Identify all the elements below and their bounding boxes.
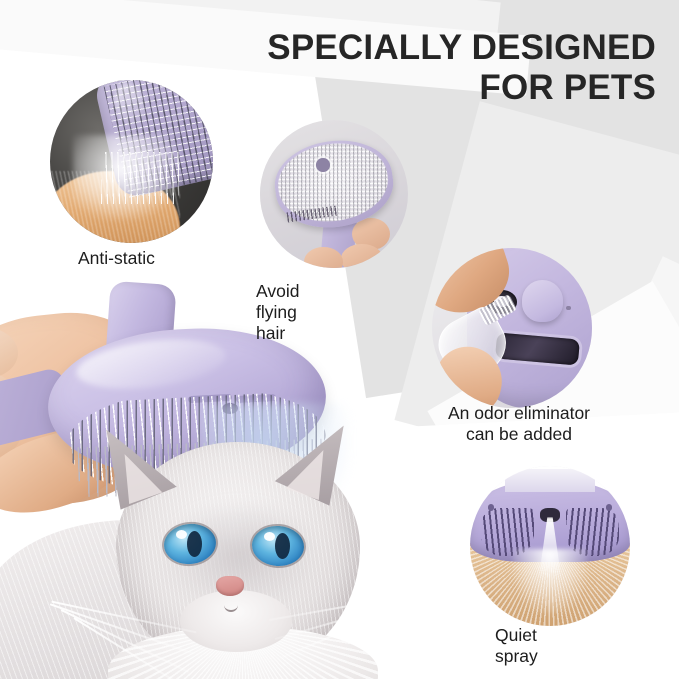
feature-caption-avoid-flying-hair: Avoid flying hair [256, 281, 299, 344]
feature-image-avoid-flying-hair [260, 120, 408, 268]
feature-caption-quiet-spray: Quiet spray [495, 625, 538, 667]
cat-pupil-right [275, 533, 290, 559]
feature-image-odor-eliminator [432, 248, 592, 408]
brush-top-cap [505, 469, 595, 491]
cat-eye-catchlight [176, 530, 187, 539]
finger [304, 247, 342, 268]
page-title: SPECIALLY DESIGNED FOR PETS [236, 28, 656, 107]
feature-caption-anti-static: Anti-static [78, 248, 155, 269]
cat-eye-catchlight [264, 532, 275, 541]
cat-photo [20, 420, 450, 679]
release-button [316, 158, 329, 171]
screw [488, 504, 494, 510]
feature-caption-odor-eliminator: An odor eliminator can be added [424, 403, 614, 445]
feature-quiet-spray: Quiet spray [0, 0, 160, 160]
cat-pupil-left [187, 531, 202, 557]
feature-image-quiet-spray [470, 466, 630, 626]
product-infographic: SPECIALLY DESIGNED FOR PETS [0, 0, 679, 679]
cat-mouth [224, 598, 238, 612]
brush-knob [522, 280, 564, 322]
cat-nose [216, 576, 244, 596]
finger [341, 244, 382, 268]
water-mist [512, 549, 589, 613]
